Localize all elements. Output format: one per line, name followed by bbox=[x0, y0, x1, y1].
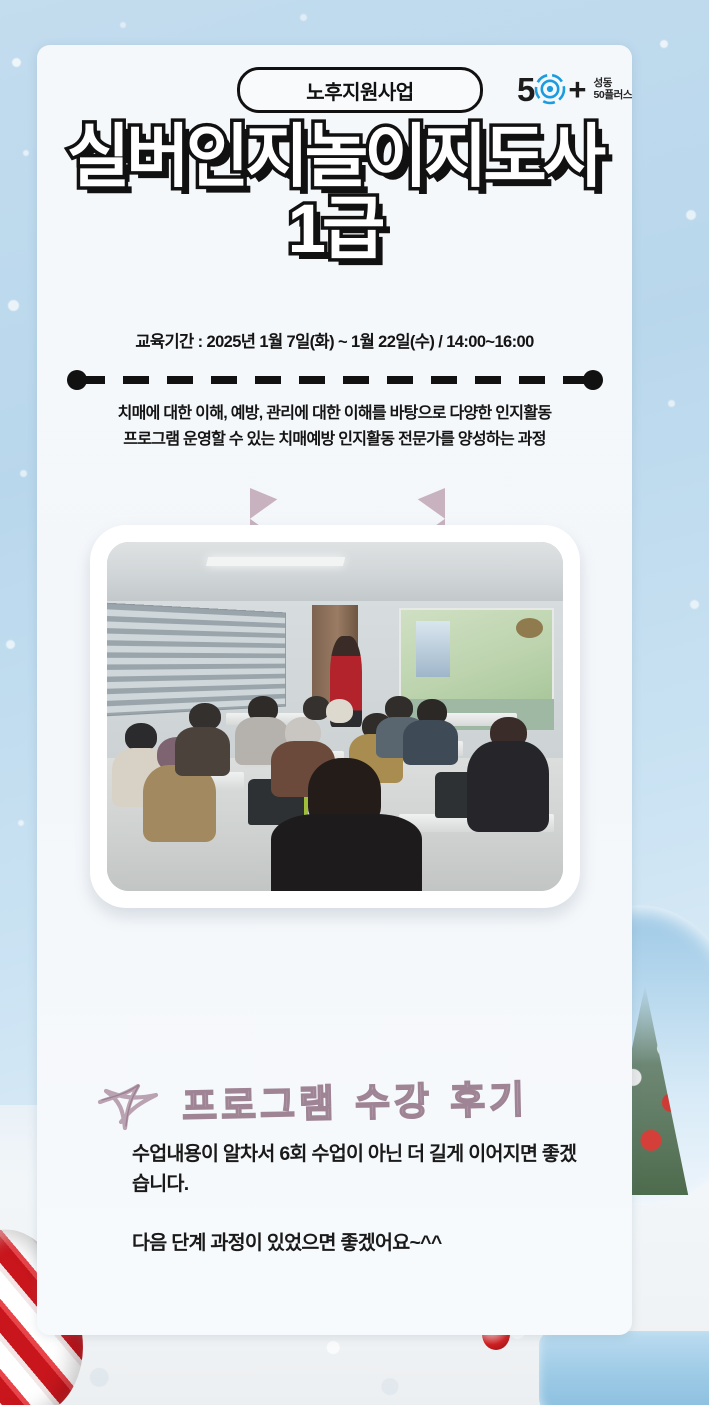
logo-ring-icon bbox=[534, 73, 566, 105]
logo-center-region: 성동 bbox=[593, 77, 632, 89]
title-line-2: 1급 bbox=[37, 195, 632, 263]
poster-card: 노후지원사업 5 + 성동 50플러스센터 실버인지놀이지도사 bbox=[37, 45, 632, 1335]
logo-center-title: 50플러스센터 bbox=[593, 89, 632, 101]
logo-plus-text: + bbox=[568, 74, 586, 105]
divider-dot-right-icon bbox=[583, 370, 603, 390]
divider-dashes bbox=[79, 376, 591, 384]
review-heading-row: 프로그램 수강 후기 bbox=[82, 1060, 582, 1140]
center-logo: 5 + 성동 50플러스센터 bbox=[517, 67, 632, 111]
snowflake-icon bbox=[6, 640, 15, 649]
photo-student-head bbox=[326, 699, 353, 723]
photo-ceiling bbox=[107, 542, 563, 601]
program-category-label: 노후지원사업 bbox=[306, 76, 413, 105]
review-item: 수업내용이 알차서 6회 수업이 아닌 더 길게 이어지면 좋겠습니다. bbox=[132, 1140, 587, 1199]
snowflake-icon bbox=[300, 14, 307, 21]
class-photo-frame bbox=[90, 525, 580, 908]
snowflake-icon bbox=[660, 40, 668, 48]
snowflake-icon bbox=[18, 820, 24, 826]
course-description: 치매에 대한 이해, 예방, 관리에 대한 이해를 바탕으로 다양한 인지활동 … bbox=[37, 401, 632, 453]
title-line-1: 실버인지놀이지도사 bbox=[37, 123, 632, 191]
education-period-text: 교육기간 : 2025년 1월 7일(화) ~ 1월 22일(수) / 14:0… bbox=[37, 328, 632, 352]
review-list: 수업내용이 알차서 6회 수업이 아닌 더 길게 이어지면 좋겠습니다. 다음 … bbox=[132, 1140, 587, 1259]
photo-student-body bbox=[403, 720, 458, 765]
snowflake-icon bbox=[8, 300, 19, 311]
snow-globe-base bbox=[539, 1331, 709, 1405]
review-item: 다음 단계 과정이 있었으면 좋겠어요~^^ bbox=[132, 1229, 587, 1259]
hand-drawn-star-icon bbox=[94, 1064, 166, 1134]
snowflake-icon bbox=[120, 22, 126, 28]
course-description-line-1: 치매에 대한 이해, 예방, 관리에 대한 이해를 바탕으로 다양한 인지활동 bbox=[37, 401, 632, 427]
review-section-title: 프로그램 수강 후기 bbox=[181, 1068, 528, 1130]
course-description-line-2: 프로그램 운영할 수 있는 치매예방 인지활동 전문가를 양성하는 과정 bbox=[37, 427, 632, 453]
photo-student-body bbox=[143, 765, 216, 842]
snowflake-icon bbox=[23, 150, 29, 156]
dashed-divider bbox=[65, 370, 605, 390]
photo-projection-screen bbox=[399, 608, 553, 703]
logo-mark: 5 + bbox=[517, 73, 586, 106]
program-category-badge: 노후지원사업 bbox=[237, 67, 483, 113]
photo-student-body bbox=[175, 727, 230, 776]
snowflake-icon bbox=[690, 600, 699, 609]
snowflake-icon bbox=[12, 58, 21, 67]
poster-header: 노후지원사업 5 + 성동 50플러스센터 bbox=[37, 61, 632, 119]
snowflake-icon bbox=[20, 470, 27, 477]
photo-student-body-foreground bbox=[271, 814, 421, 891]
photo-student-body bbox=[467, 741, 549, 832]
snowflake-icon bbox=[686, 210, 696, 220]
class-photo bbox=[107, 542, 563, 891]
logo-five-text: 5 bbox=[517, 73, 533, 106]
snowflake-icon bbox=[668, 400, 675, 407]
poster-title: 실버인지놀이지도사 1급 bbox=[37, 123, 632, 262]
logo-center-name: 성동 50플러스센터 bbox=[593, 77, 632, 102]
